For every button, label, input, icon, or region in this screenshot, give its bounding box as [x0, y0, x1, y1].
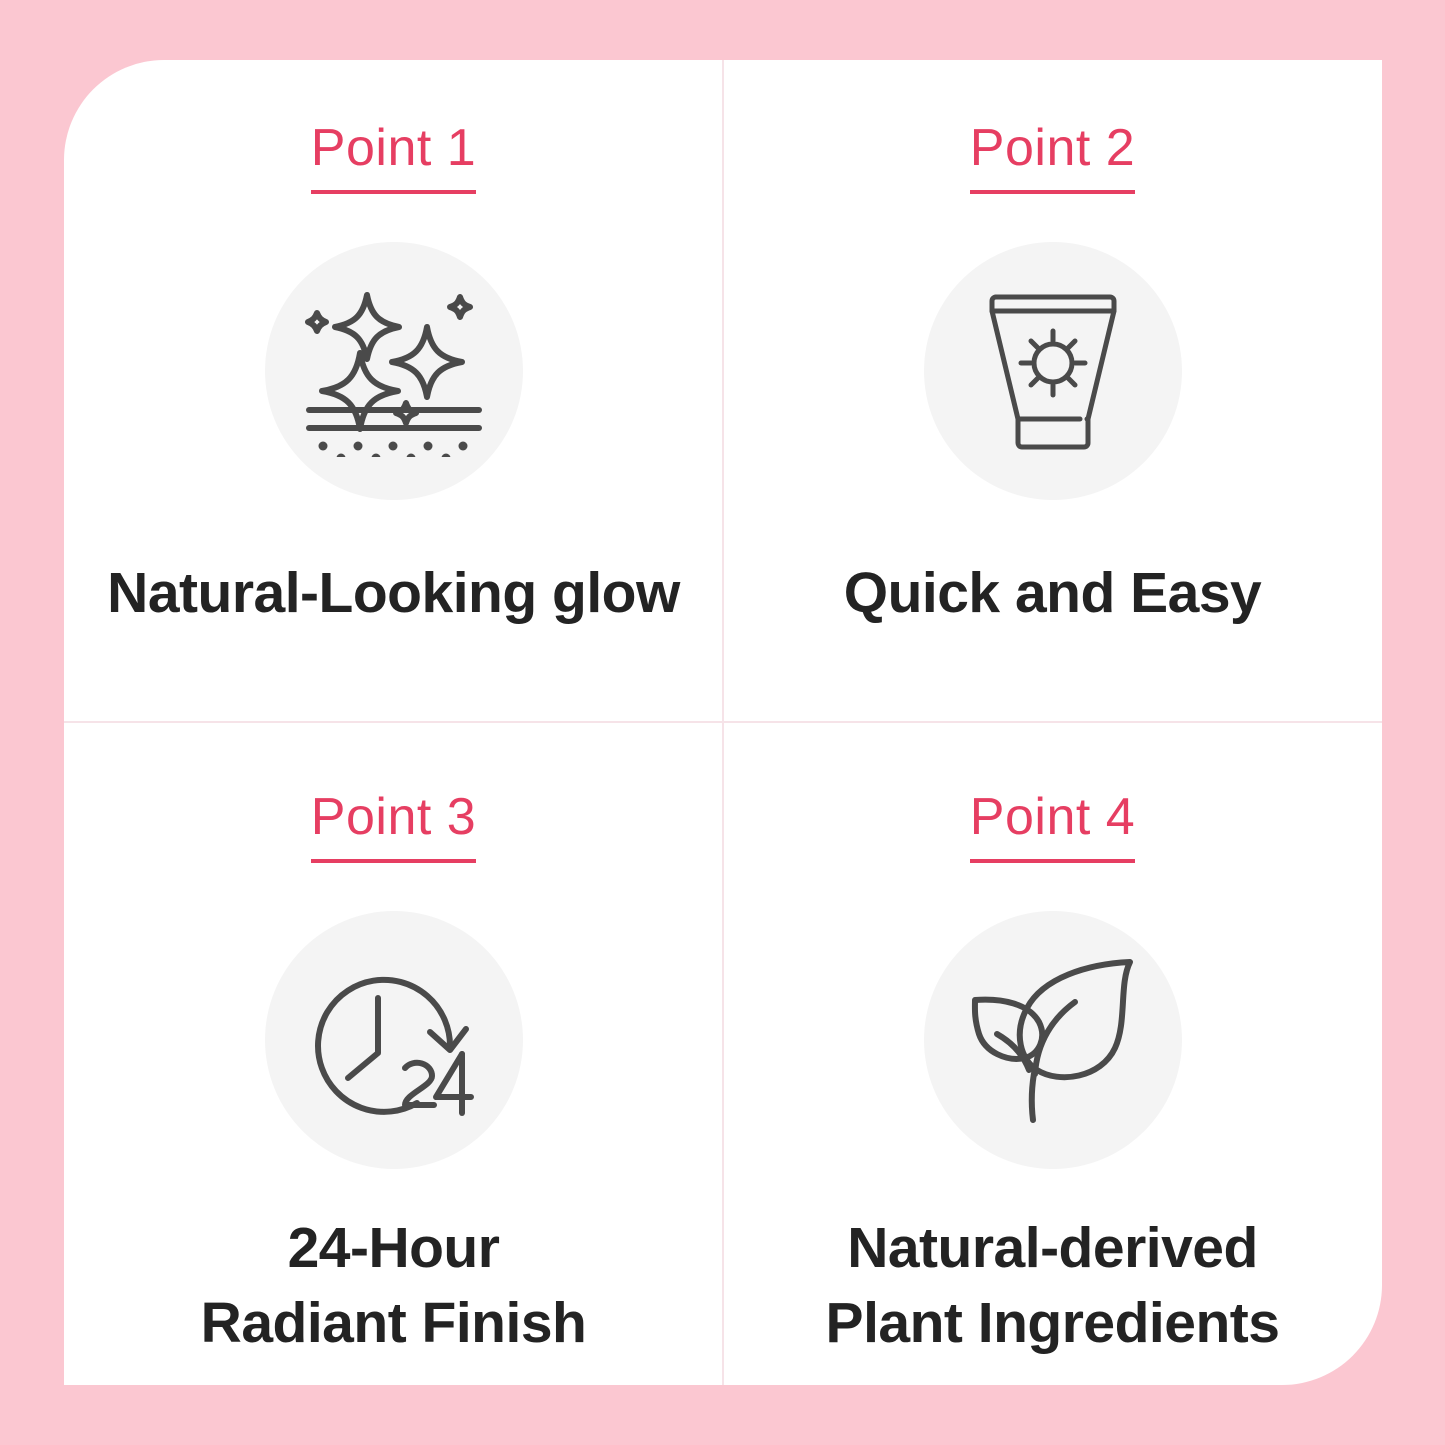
benefit-title-1: Natural-Looking glow [107, 556, 680, 631]
benefit-cell-4: Point 4 Natural-deri [723, 723, 1382, 1386]
benefit-title-4: Natural-derived Plant Ingredients [826, 1211, 1280, 1361]
benefits-card: Point 1 [64, 60, 1382, 1385]
benefit-cell-2: Point 2 [723, 60, 1382, 723]
product-benefits-panel: Point 1 [0, 0, 1445, 1445]
benefits-grid: Point 1 [64, 60, 1382, 1385]
sparkle-skin-icon [265, 242, 523, 500]
point-label-3: Point 3 [311, 791, 476, 863]
clock-24-hour-icon [265, 911, 523, 1169]
point-label-4: Point 4 [970, 791, 1135, 863]
point-label-1: Point 1 [311, 122, 476, 194]
sunscreen-tube-icon [924, 242, 1182, 500]
point-label-2: Point 2 [970, 122, 1135, 194]
benefit-title-3: 24-Hour Radiant Finish [201, 1211, 587, 1361]
benefit-cell-3: Point 3 24-Hour Radi [64, 723, 723, 1386]
benefit-title-2: Quick and Easy [844, 556, 1262, 631]
plant-leaf-icon [924, 911, 1182, 1169]
benefit-cell-1: Point 1 [64, 60, 723, 723]
